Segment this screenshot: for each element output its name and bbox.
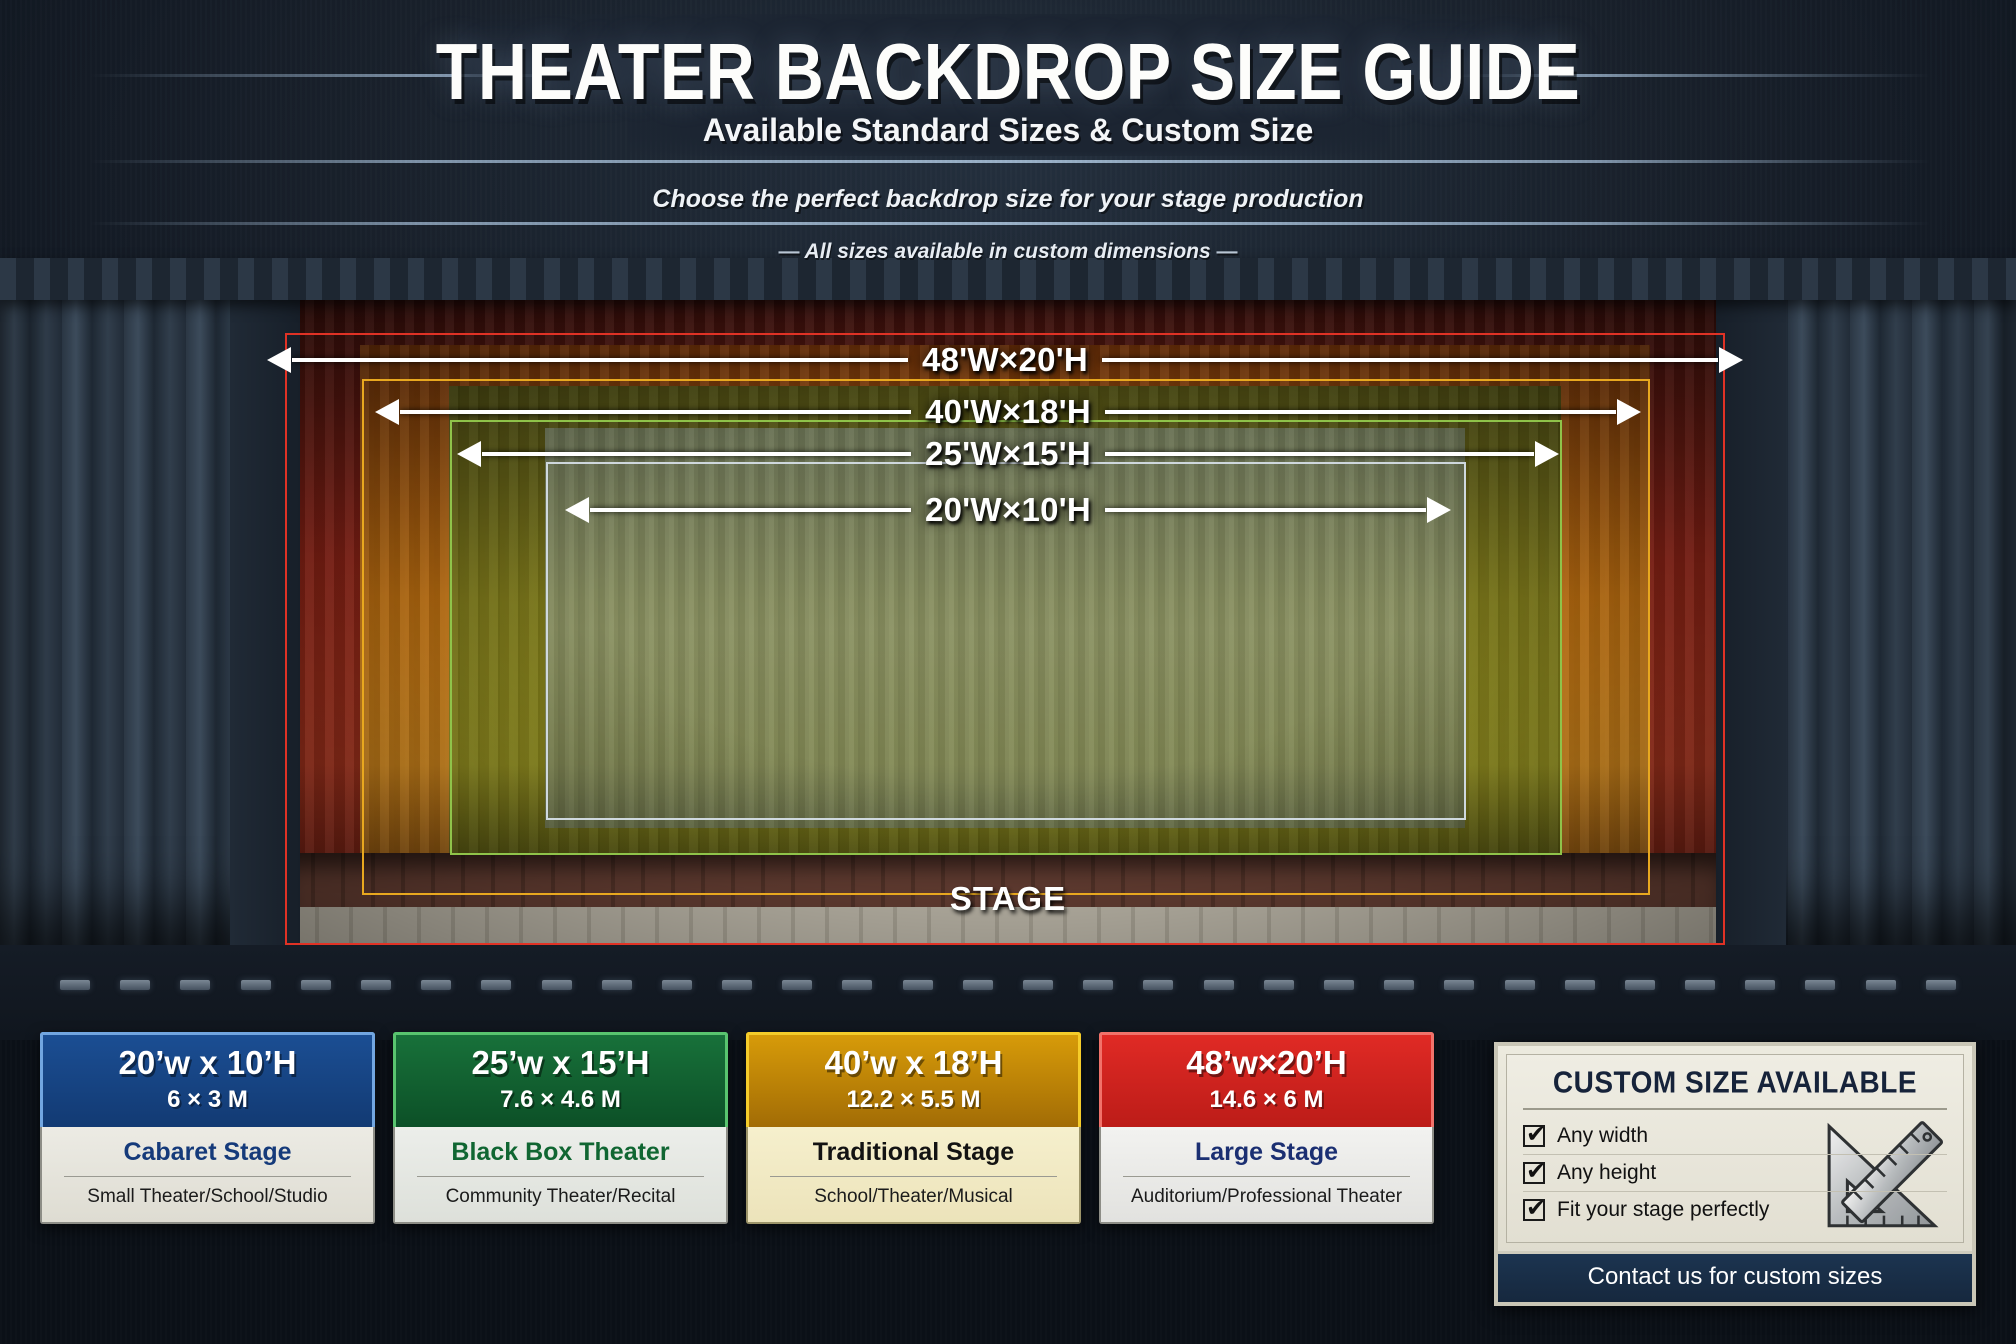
footlight <box>1444 980 1474 990</box>
footlight <box>662 980 692 990</box>
dash-right: — <box>1217 240 1238 263</box>
size-card-body: Cabaret Stage Small Theater/School/Studi… <box>40 1127 375 1224</box>
arrow-left-20 <box>590 508 911 512</box>
size-card-feet: 40’w x 18’H <box>757 1046 1070 1081</box>
arrow-right-20 <box>1105 508 1426 512</box>
size-card-large[interactable]: 48’w×20’H 14.6 × 6 M Large Stage Auditor… <box>1099 1032 1434 1224</box>
footlight <box>1625 980 1655 990</box>
arrow-right-40 <box>1105 410 1616 414</box>
custom-feature-any-width[interactable]: Any width <box>1523 1118 1947 1154</box>
dimension-row-48x20: 48'W×20'H <box>292 340 1718 380</box>
footlight <box>602 980 632 990</box>
page-subtitle: Available Standard Sizes & Custom Size <box>0 112 2016 149</box>
custom-size-feature-list: Any width Any height Fit your stage perf… <box>1523 1118 1947 1228</box>
footlight <box>241 980 271 990</box>
footlight <box>301 980 331 990</box>
size-card-usage: School/Theater/Musical <box>760 1186 1067 1208</box>
footlight <box>1926 980 1956 990</box>
size-card-divider <box>64 1176 351 1177</box>
tagline: Choose the perfect backdrop size for you… <box>0 185 2016 214</box>
size-card-cabaret[interactable]: 20’w x 10’H 6 × 3 M Cabaret Stage Small … <box>40 1032 375 1224</box>
size-card-black-box[interactable]: 25’w x 15’H 7.6 × 4.6 M Black Box Theate… <box>393 1032 728 1224</box>
custom-feature-label: Fit your stage perfectly <box>1557 1198 1769 1222</box>
footlight <box>1023 980 1053 990</box>
dimension-label-20x10: 20'W×10'H <box>911 491 1105 529</box>
size-card-divider <box>417 1176 704 1177</box>
page-title: THEATER BACKDROP SIZE GUIDE <box>0 26 2016 118</box>
size-card-meters: 12.2 × 5.5 M <box>757 1086 1070 1114</box>
dimension-label-25x15: 25'W×15'H <box>911 435 1105 473</box>
footlight <box>361 980 391 990</box>
footlight <box>1324 980 1354 990</box>
size-card-meters: 7.6 × 4.6 M <box>404 1086 717 1114</box>
size-card-body: Traditional Stage School/Theater/Musical <box>746 1127 1081 1224</box>
size-card-body: Black Box Theater Community Theater/Reci… <box>393 1127 728 1224</box>
footlight <box>1204 980 1234 990</box>
size-card-usage: Community Theater/Recital <box>407 1186 714 1208</box>
size-card-traditional[interactable]: 40’w x 18’H 12.2 × 5.5 M Traditional Sta… <box>746 1032 1081 1224</box>
header: THEATER BACKDROP SIZE GUIDE Available St… <box>0 0 2016 270</box>
header-rule-mid <box>90 160 1930 163</box>
size-card-header: 48’w×20’H 14.6 × 6 M <box>1099 1032 1434 1127</box>
custom-feature-any-height[interactable]: Any height <box>1523 1154 1947 1191</box>
custom-size-title: CUSTOM SIZE AVAILABLE <box>1523 1066 1947 1101</box>
footlight <box>1505 980 1535 990</box>
size-card-meters: 14.6 × 6 M <box>1110 1086 1423 1114</box>
check-icon <box>1523 1199 1545 1221</box>
arrow-left-40 <box>400 410 911 414</box>
size-card-usage: Auditorium/Professional Theater <box>1113 1186 1420 1208</box>
arrow-right-25 <box>1105 452 1534 456</box>
size-card-header: 40’w x 18’H 12.2 × 5.5 M <box>746 1032 1081 1127</box>
dimension-row-40x18: 40'W×18'H <box>400 392 1616 432</box>
size-card-feet: 25’w x 15’H <box>404 1046 717 1081</box>
stage-label: STAGE <box>0 880 2016 918</box>
footlight <box>421 980 451 990</box>
dimension-row-25x15: 25'W×15'H <box>482 434 1534 474</box>
footlight <box>782 980 812 990</box>
size-card-header: 20’w x 10’H 6 × 3 M <box>40 1032 375 1127</box>
custom-feature-label: Any width <box>1557 1124 1648 1148</box>
custom-feature-label: Any height <box>1557 1161 1656 1185</box>
dimension-label-48x20: 48'W×20'H <box>908 341 1102 379</box>
size-card-list: 20’w x 10’H 6 × 3 M Cabaret Stage Small … <box>40 1032 1434 1224</box>
arrow-left-25 <box>482 452 911 456</box>
size-card-meters: 6 × 3 M <box>51 1086 364 1114</box>
size-card-usage: Small Theater/School/Studio <box>54 1186 361 1208</box>
footlight <box>1565 980 1595 990</box>
size-card-name: Black Box Theater <box>407 1138 714 1167</box>
size-card-name: Traditional Stage <box>760 1138 1067 1167</box>
check-icon <box>1523 1162 1545 1184</box>
dash-left: — <box>778 240 799 263</box>
size-card-name: Cabaret Stage <box>54 1138 361 1167</box>
footlight <box>903 980 933 990</box>
footlight <box>722 980 752 990</box>
footlight-strip <box>60 980 1956 990</box>
arrow-left-48 <box>292 358 908 362</box>
stage-apron <box>0 945 2016 1040</box>
footlight <box>1685 980 1715 990</box>
custom-size-body: CUSTOM SIZE AVAILABLE <box>1506 1054 1964 1243</box>
dimension-label-40x18: 40'W×18'H <box>911 393 1105 431</box>
footlight <box>1866 980 1896 990</box>
custom-size-divider <box>1523 1108 1947 1110</box>
infographic-root: THEATER BACKDROP SIZE GUIDE Available St… <box>0 0 2016 1344</box>
footlight <box>842 980 872 990</box>
tagline-secondary: — All sizes available in custom dimensio… <box>0 240 2016 264</box>
header-rule-bottom <box>90 222 1930 225</box>
size-card-feet: 48’w×20’H <box>1110 1046 1423 1081</box>
dimension-row-20x10: 20'W×10'H <box>590 490 1426 530</box>
footlight <box>120 980 150 990</box>
footlight <box>963 980 993 990</box>
footlight <box>481 980 511 990</box>
footlight <box>1083 980 1113 990</box>
size-card-header: 25’w x 15’H 7.6 × 4.6 M <box>393 1032 728 1127</box>
stage-valance <box>0 258 2016 300</box>
footlight <box>542 980 572 990</box>
arrow-right-48 <box>1102 358 1718 362</box>
contact-cta[interactable]: Contact us for custom sizes <box>1498 1251 1972 1302</box>
footlight <box>1264 980 1294 990</box>
tagline-secondary-text: All sizes available in custom dimensions <box>805 240 1211 263</box>
footlight <box>1143 980 1173 990</box>
footlight <box>1745 980 1775 990</box>
footlight <box>60 980 90 990</box>
custom-size-panel[interactable]: CUSTOM SIZE AVAILABLE <box>1494 1042 1976 1306</box>
size-card-divider <box>1123 1176 1410 1177</box>
footlight <box>180 980 210 990</box>
footlight <box>1805 980 1835 990</box>
size-card-body: Large Stage Auditorium/Professional Thea… <box>1099 1127 1434 1224</box>
size-card-divider <box>770 1176 1057 1177</box>
size-card-feet: 20’w x 10’H <box>51 1046 364 1081</box>
footlight <box>1384 980 1414 990</box>
custom-feature-fit-stage[interactable]: Fit your stage perfectly <box>1523 1191 1947 1228</box>
size-card-name: Large Stage <box>1113 1138 1420 1167</box>
check-icon <box>1523 1125 1545 1147</box>
